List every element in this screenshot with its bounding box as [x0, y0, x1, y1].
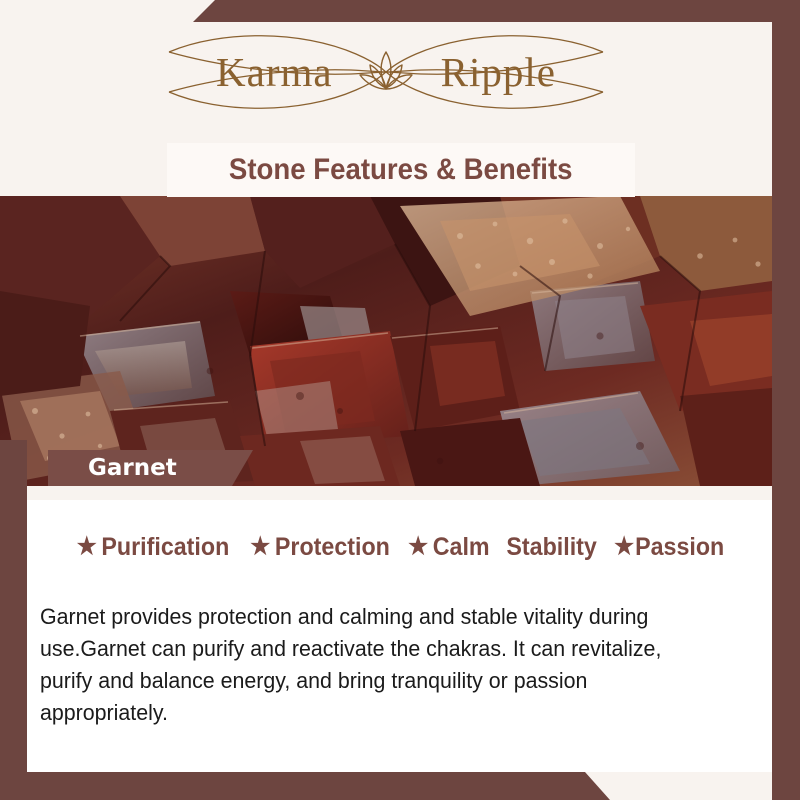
frame-bar-left — [0, 440, 27, 800]
stone-photo — [0, 196, 772, 486]
brand-logo: Karma Ripple — [151, 24, 621, 120]
star-icon: ★ — [77, 535, 97, 559]
benefit-item: ★Passion — [614, 533, 724, 562]
benefit-label: Stability — [506, 533, 596, 562]
benefit-item: ★Protection — [250, 533, 390, 562]
brand-name-first: Karma — [216, 48, 333, 96]
benefit-item: ★Purification — [77, 533, 230, 562]
stone-description: Garnet provides protection and calming a… — [40, 601, 719, 729]
star-icon: ★ — [614, 535, 634, 559]
page-title: Stone Features & Benefits — [229, 153, 573, 187]
stone-name-banner: Garnet — [48, 450, 253, 486]
garnet-crystal-image — [0, 196, 772, 486]
benefit-label: Purification — [101, 533, 229, 562]
benefit-label: Calm — [433, 533, 490, 562]
title-band: Stone Features & Benefits — [167, 143, 635, 197]
star-icon: ★ — [408, 535, 428, 559]
star-icon: ★ — [250, 535, 270, 559]
benefits-row: ★Purification★Protection★Calm★Stability★… — [27, 528, 772, 566]
benefit-label: Protection — [275, 533, 390, 562]
stone-info-card: Karma Ripple Stone Features & Benefits — [0, 0, 800, 800]
frame-bar-right — [772, 0, 800, 800]
lotus-icon — [355, 48, 417, 96]
benefit-label: Passion — [635, 533, 724, 562]
stone-name-label: Garnet — [48, 455, 177, 481]
brand-name-second: Ripple — [441, 48, 556, 96]
benefit-item: ★Stability — [506, 533, 596, 562]
benefit-item: ★Calm — [408, 533, 490, 562]
